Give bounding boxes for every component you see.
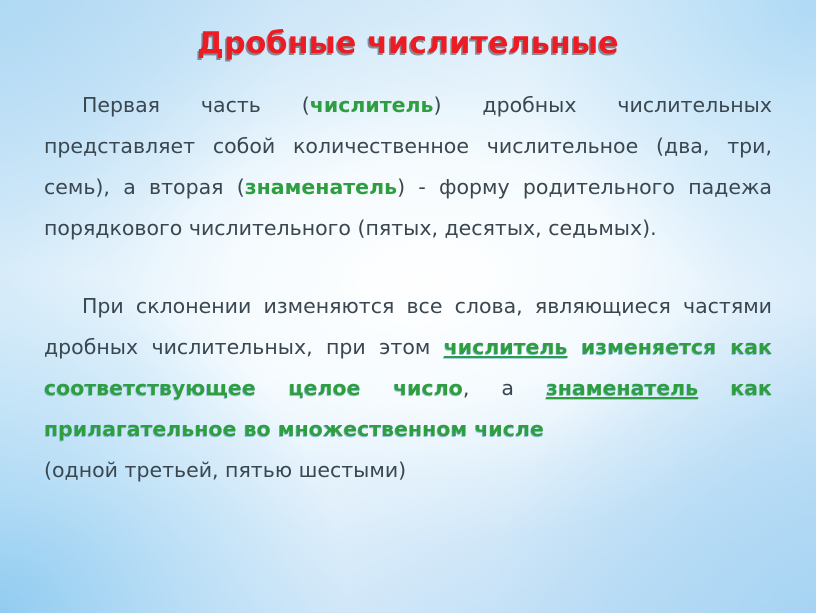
p2-space-2 bbox=[698, 376, 730, 400]
keyword-znamenatel: знаменатель bbox=[245, 175, 397, 199]
slide-body: Первая часть (числитель) дробных числите… bbox=[36, 85, 780, 491]
keyword-chislitel-underlined: числитель bbox=[444, 335, 568, 359]
p2-segment-3: , а bbox=[463, 376, 546, 400]
paragraph-examples: (одной третьей, пятью шестыми) bbox=[44, 450, 772, 491]
slide-canvas: Дробные числительные Первая часть (числи… bbox=[0, 0, 816, 613]
keyword-znamenatel-underlined: знаменатель bbox=[546, 376, 698, 400]
paragraph-declension: При склонении изменяются все слова, явля… bbox=[44, 286, 772, 450]
page-title: Дробные числительные bbox=[0, 0, 816, 61]
p2-space-1 bbox=[568, 335, 581, 359]
p1-segment-1: Первая часть ( bbox=[82, 93, 310, 117]
paragraph-definition: Первая часть (числитель) дробных числите… bbox=[44, 85, 772, 249]
keyword-chislitel: числитель bbox=[310, 93, 434, 117]
